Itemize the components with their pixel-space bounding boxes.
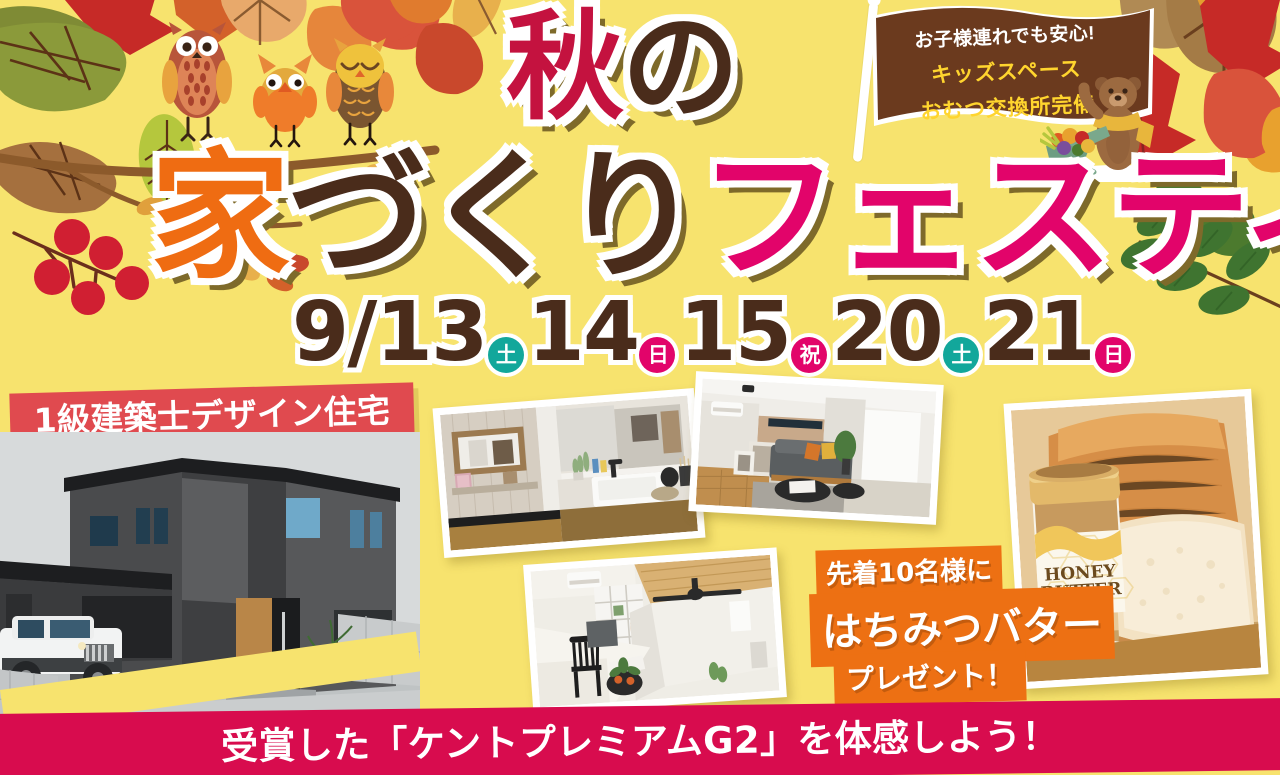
berry-branch-icon <box>10 215 180 330</box>
autumn-leaves-icon <box>196 208 316 298</box>
washroom-image <box>440 395 698 550</box>
green-sprig-icon <box>1124 180 1280 340</box>
photo-washroom-vanity <box>433 388 706 558</box>
living-room-image <box>696 379 937 518</box>
owl-rust-icon <box>160 22 236 149</box>
date-day-4: 20 <box>831 292 942 374</box>
date-weekday-1: 土 <box>488 337 524 373</box>
date-day-5: 21 <box>983 292 1094 374</box>
fox-bird-icon <box>252 52 318 153</box>
dining-loft-image <box>531 555 780 707</box>
promotional-banner: お子様連れでも安心! キッズスペース おむつ交換所完備 <box>0 0 1280 775</box>
date-weekday-4: 土 <box>943 337 979 373</box>
date-weekday-2: 日 <box>639 337 675 373</box>
present-callout: 先着10名様に はちみつバター プレゼント！ <box>810 548 1090 694</box>
flag-line-1: お子様連れでも安心! <box>868 16 1141 55</box>
title-char-no: の <box>622 8 738 126</box>
photo-living-room <box>688 371 943 525</box>
photo-dining-loft <box>523 547 787 714</box>
date-prefix: 9/ <box>292 292 376 374</box>
event-dates: 9/13土14日15祝20土21日 <box>292 292 1135 374</box>
date-day-3: 15 <box>679 292 790 374</box>
owl-yellow-icon <box>324 36 396 151</box>
title-line-1: 秋の <box>506 8 737 126</box>
date-weekday-5: 日 <box>1095 337 1131 373</box>
present-line-3: プレゼント！ <box>833 649 1026 705</box>
date-day-1: 13 <box>376 292 487 374</box>
autumn-leaves-icon <box>1180 0 1280 170</box>
date-weekday-3: 祝 <box>791 337 827 373</box>
date-day-2: 14 <box>528 292 639 374</box>
bear-wheelbarrow-icon <box>1040 62 1190 187</box>
